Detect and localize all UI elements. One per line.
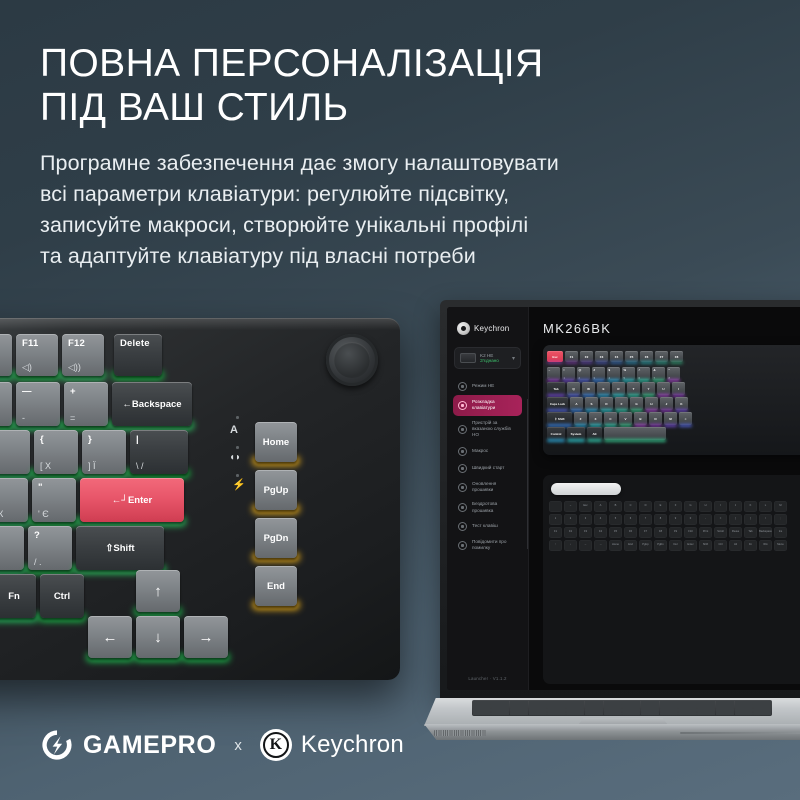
preview-key-backlight (567, 439, 585, 442)
laptop-key (473, 708, 491, 711)
sidebar-item-8[interactable]: Повідомити про помилку (453, 535, 522, 556)
remap-key[interactable]: End (624, 540, 637, 551)
laptop-key (491, 712, 509, 715)
laptop-key (622, 704, 640, 707)
laptop-screen: Keychron K2 HE З'єднано ▾ Режим HEРозкла… (447, 307, 800, 690)
remap-key[interactable] (549, 501, 562, 512)
remap-key[interactable]: B (609, 501, 622, 512)
keycap-sublabel: / . (34, 557, 42, 567)
laptop-key (566, 712, 584, 715)
laptop-key (735, 704, 753, 707)
nav-key-label: PgDn (255, 518, 297, 558)
remap-key-label: Backspace (759, 527, 772, 538)
remap-key[interactable]: C (624, 501, 637, 512)
page-title: ПОВНА ПЕРСОНАЛІЗАЦІЯ ПІД ВАШ СТИЛЬ (40, 42, 760, 131)
remap-key[interactable]: ; (774, 514, 787, 525)
remap-key[interactable]: 3 (579, 514, 592, 525)
remap-key-label: - (699, 514, 712, 525)
laptop-key (716, 701, 734, 704)
preview-key-backlight (604, 439, 666, 442)
keycap-sublabel: ◁) (22, 362, 32, 373)
remap-key[interactable]: E (654, 501, 667, 512)
laptop: Keychron K2 HE З'єднано ▾ Режим HEРозкла… (410, 300, 800, 750)
sidebar-item-label: Швидкий старт (472, 465, 504, 471)
remap-key[interactable]: Fn (744, 540, 757, 551)
laptop-key (585, 708, 603, 711)
sidebar-scrollbar[interactable] (527, 399, 528, 549)
remap-key-label: ] (744, 514, 757, 525)
keycap[interactable]: ⇧Shift (76, 526, 164, 570)
preview-key-label: # (594, 368, 596, 372)
remap-key[interactable]: 1 (549, 514, 562, 525)
keycap[interactable]: F12◁)) (62, 334, 104, 376)
sidebar-item-5[interactable]: Оновлення прошивки (453, 477, 522, 498)
remap-key-label: K (744, 501, 757, 512)
remap-key[interactable]: - (699, 514, 712, 525)
remap-key-label: 7 (639, 514, 652, 525)
laptop-key (473, 701, 491, 704)
laptop-key (660, 704, 678, 707)
nav-key[interactable]: PgDn (255, 518, 297, 558)
app-brand: Keychron (447, 319, 528, 337)
download-icon (458, 483, 467, 492)
keycap-sublabel: ] Ї (88, 461, 96, 471)
keyboard-icon (458, 401, 467, 410)
remap-key[interactable]: ← (579, 540, 592, 551)
laptop-key (641, 704, 659, 707)
remap-key-label: F3 (579, 527, 592, 538)
remap-key[interactable]: F10 (684, 527, 697, 538)
remap-key-label: Fn (744, 540, 757, 551)
keycap[interactable]: {[ Х (34, 430, 78, 474)
laptop-keyboard (472, 700, 772, 716)
footer-logos: GAMEPRO x K Keychron (40, 728, 404, 762)
nav-key[interactable]: PgUp (255, 470, 297, 510)
caps-indicator-icon: A (230, 424, 238, 436)
remap-key-label: Del (669, 540, 682, 551)
keycap[interactable]: |\ / (130, 430, 188, 474)
laptop-key (735, 712, 753, 715)
keycap[interactable]: ←┘Enter (80, 478, 184, 522)
sidebar-item-label: Оновлення прошивки (472, 481, 517, 494)
keycap-label: } (88, 434, 92, 445)
sidebar-item-7[interactable]: Тест клавіш (453, 518, 522, 535)
remap-key[interactable]: M (774, 501, 787, 512)
keychron-k-icon: K (260, 729, 292, 761)
laptop-key (547, 712, 565, 715)
keycap-sublabel: - (22, 413, 25, 423)
laptop-key (566, 701, 584, 704)
laptop-key (491, 704, 509, 707)
preview-key-label: @ (579, 368, 582, 372)
keycap-sublabel: [ Х (40, 461, 51, 471)
remap-key[interactable]: F6 (624, 527, 637, 538)
laptop-key (678, 712, 696, 715)
remap-key-label: F1 (549, 527, 562, 538)
app-sidebar: Keychron K2 HE З'єднано ▾ Режим HEРозкла… (447, 307, 529, 690)
laptop-key (697, 701, 715, 704)
volume-knob[interactable] (326, 334, 378, 386)
arrow-key-label: ← (88, 616, 132, 658)
remap-key[interactable]: Pause (729, 527, 742, 538)
remap-key[interactable]: Shift (699, 540, 712, 551)
keycap[interactable]: РЗ (0, 430, 30, 474)
keycap[interactable]: += (64, 382, 108, 426)
nav-key-label: PgUp (255, 470, 297, 510)
remap-key[interactable]: Scroll (714, 527, 727, 538)
keycap[interactable]: )0 (0, 382, 12, 426)
remap-key[interactable]: Backspace (759, 527, 772, 538)
remap-key[interactable]: F8 (654, 527, 667, 538)
remap-key-label: Enter (684, 540, 697, 551)
preview-key-backlight (547, 361, 563, 364)
keycap[interactable]: Ctrl (40, 574, 84, 618)
remap-key[interactable]: Ctrl (714, 540, 727, 551)
remap-key-label: ↓ (564, 540, 577, 551)
remap-key-label: F10 (684, 527, 697, 538)
laptop-key (678, 708, 696, 711)
keycap-label: ⇧Shift (76, 526, 164, 570)
preview-key-label: $ (609, 368, 611, 372)
keycap-label: — (22, 386, 32, 397)
keycap-label: ←┘Enter (80, 478, 184, 522)
led-dot (236, 446, 239, 449)
laptop-key (641, 708, 659, 711)
keycap[interactable]: :; Ж (0, 478, 28, 522)
arrow-key[interactable]: ↓ (136, 616, 180, 658)
preview-key-label: % (624, 368, 627, 372)
preview-key-backlight (580, 361, 593, 364)
remap-key[interactable]: Ins (774, 527, 787, 538)
preview-key-backlight (640, 361, 653, 364)
keycap[interactable]: >. Ю (0, 526, 24, 570)
remap-key[interactable]: PgUp (639, 540, 652, 551)
laptop-key (566, 708, 584, 711)
sidebar-item-6[interactable]: Бездротова прошивка (453, 497, 522, 518)
remap-key-label: 2 (564, 514, 577, 525)
keycap[interactable]: }] Ї (82, 430, 126, 474)
preview-key-backlight (547, 439, 565, 442)
remap-key-label: Home (609, 540, 622, 551)
keycap-label: { (40, 434, 44, 445)
arrow-key-label: → (184, 616, 228, 658)
remap-key-label: F4 (594, 527, 607, 538)
preview-key-backlight (610, 361, 623, 364)
promo-banner: ПОВНА ПЕРСОНАЛІЗАЦІЯ ПІД ВАШ СТИЛЬ Прогр… (0, 0, 800, 800)
remap-key-label: Print (699, 527, 712, 538)
remap-key-label: 4 (594, 514, 607, 525)
laptop-key (622, 712, 640, 715)
remap-key[interactable]: 9 (669, 514, 682, 525)
arrow-key[interactable]: ← (88, 616, 132, 658)
remap-key-label: F (669, 501, 682, 512)
speaker-grille (434, 730, 486, 736)
remap-key[interactable]: Alt (729, 540, 742, 551)
preview-key-backlight (587, 439, 602, 442)
remap-key[interactable]: D (639, 501, 652, 512)
remap-key-label: D (639, 501, 652, 512)
remap-key[interactable]: → (594, 540, 607, 551)
remap-key[interactable]: 5 (609, 514, 622, 525)
brand-label: Keychron (474, 324, 509, 333)
device-model-title: MK266BK (543, 321, 800, 336)
key-remap-panel[interactable]: ~EscABCDEFGHIJKLM1234567890-=[]\;F1F2F3F… (543, 475, 800, 684)
nav-key[interactable]: End (255, 566, 297, 606)
laptop-key (529, 701, 547, 704)
preview-key-backlight (625, 361, 638, 364)
keychron-logo-icon (457, 322, 470, 335)
keycap-label: " (38, 482, 43, 493)
keycap[interactable]: ←Backspace (112, 382, 192, 426)
sidebar-item-4[interactable]: Швидкий старт (453, 460, 522, 477)
wireless-icon (458, 503, 467, 512)
remap-key[interactable]: Print (699, 527, 712, 538)
remap-key[interactable]: Win (759, 540, 772, 551)
remap-key-label: Ins (774, 527, 787, 538)
laptop-key (660, 701, 678, 704)
remap-key-label: 9 (669, 514, 682, 525)
keycap-label: | (136, 434, 139, 445)
laptop-key (753, 708, 771, 711)
chevron-down-icon[interactable]: ▾ (512, 355, 515, 362)
remap-key-label: A (594, 501, 607, 512)
laptop-key (604, 704, 622, 707)
remap-key-label: ← (579, 540, 592, 551)
remap-key[interactable]: I (714, 501, 727, 512)
laptop-key (641, 701, 659, 704)
keycap[interactable]: "' Є (32, 478, 76, 522)
remap-key[interactable]: F1 (549, 527, 562, 538)
remap-key[interactable]: L (759, 501, 772, 512)
remap-key-label: 6 (624, 514, 637, 525)
remap-key[interactable]: F (669, 501, 682, 512)
device-thumbnail-icon (460, 353, 476, 363)
spacebar-preview[interactable] (551, 483, 621, 495)
remap-key[interactable]: F4 (594, 527, 607, 538)
wave-icon (458, 382, 467, 391)
led-dot (236, 416, 239, 419)
keyboard-preview[interactable]: EscF1F2F3F4F5F6F7F8~`!1@2#3$4%5^6&7*8Tab… (543, 345, 800, 455)
laptop-key (529, 704, 547, 707)
remap-key[interactable]: 0 (684, 514, 697, 525)
sidebar-item-label: Розкладка клавіатури (472, 399, 517, 412)
remap-key[interactable]: F2 (564, 527, 577, 538)
page-subtitle: Програмне забезпечення дає змогу налашто… (40, 148, 770, 272)
remap-key[interactable]: J (729, 501, 742, 512)
laptop-key (678, 701, 696, 704)
remap-key-label: L (759, 501, 772, 512)
device-status: З'єднано (480, 358, 499, 363)
remap-key[interactable]: K (744, 501, 757, 512)
remap-key-label: C (624, 501, 637, 512)
laptop-key (697, 704, 715, 707)
nav-key-label: End (255, 566, 297, 606)
remap-key[interactable]: [ (729, 514, 742, 525)
laptop-key (529, 712, 547, 715)
remap-key[interactable]: Enter (684, 540, 697, 551)
laptop-key (660, 708, 678, 711)
remap-key-label: 1 (549, 514, 562, 525)
remap-key-label: Scroll (714, 527, 727, 538)
sidebar-item-label: Режим HE (472, 383, 494, 389)
laptop-key (697, 712, 715, 715)
remap-key[interactable]: Tab (744, 527, 757, 538)
launcher-version: Launcher · V1.1.2 (447, 676, 528, 681)
remap-key-label: I (714, 501, 727, 512)
keycap[interactable]: Fn (0, 574, 36, 618)
keycap[interactable]: Delete (114, 334, 162, 376)
laptop-key (473, 704, 491, 707)
remap-key-label (549, 501, 562, 512)
battery-bolt-indicator-icon: ⚡ (232, 478, 246, 491)
remap-key-label: ; (774, 514, 787, 525)
remap-key-label: B (609, 501, 622, 512)
remap-key[interactable]: Home (609, 540, 622, 551)
rocket-icon (458, 464, 467, 473)
remap-key[interactable]: H (699, 501, 712, 512)
remap-key-label: G (684, 501, 697, 512)
remap-key[interactable]: Menu (774, 540, 787, 551)
remap-key[interactable]: 2 (564, 514, 577, 525)
remap-key[interactable]: ↓ (564, 540, 577, 551)
remap-key-label: [ (729, 514, 742, 525)
remap-key-label: J (729, 501, 742, 512)
remap-key-label: Alt (729, 540, 742, 551)
wireless-indicator-icon: ◖◗ (229, 452, 241, 463)
laptop-lid: Keychron K2 HE З'єднано ▾ Режим HEРозкла… (440, 300, 800, 700)
macro-icon (458, 447, 467, 456)
remap-key[interactable]: ] (744, 514, 757, 525)
remap-key[interactable]: Del (669, 540, 682, 551)
base-seam (680, 732, 800, 734)
remap-key[interactable]: ↑ (549, 540, 562, 551)
remap-key[interactable]: A (594, 501, 607, 512)
keycap[interactable]: —- (16, 382, 60, 426)
preview-key-backlight (670, 361, 683, 364)
laptop-key (604, 701, 622, 704)
keycap[interactable]: ?/ . (28, 526, 72, 570)
laptop-key (585, 701, 603, 704)
sidebar-menu: Режим HEРозкладка клавіатуриПристрій за … (447, 378, 528, 556)
remap-key[interactable]: G (684, 501, 697, 512)
remap-key-label: F7 (639, 527, 652, 538)
app-main: MK266BK EscF1F2F3F4F5F6F7F8~`!1@2#3$4%5^… (529, 307, 800, 690)
remap-key[interactable]: = (714, 514, 727, 525)
remap-key-label: → (594, 540, 607, 551)
physical-keyboard: F8▷❙❙F9▷▷F10◁F11◁)F12◁))Delete(9)0—-+=←B… (0, 318, 400, 680)
laptop-key (491, 708, 509, 711)
keycap-label: ←Backspace (112, 382, 192, 426)
remap-key[interactable]: ~ (564, 501, 577, 512)
remap-key[interactable]: 8 (654, 514, 667, 525)
sidebar-item-3[interactable]: Макрос (453, 443, 522, 460)
laptop-key (622, 708, 640, 711)
laptop-key (585, 712, 603, 715)
remap-key-label: = (714, 514, 727, 525)
remap-key-label: Pause (729, 527, 742, 538)
keycap[interactable]: F10◁ (0, 334, 12, 376)
laptop-key (735, 701, 753, 704)
sidebar-item-2[interactable]: Пристрій за вказаною службів НО (453, 416, 522, 443)
preview-key-label: * (669, 368, 670, 372)
led-dot (236, 474, 239, 477)
remap-key-label: Win (759, 540, 772, 551)
keychron-logo: K Keychron (260, 729, 404, 761)
preview-key-label: ^ (639, 368, 641, 372)
sidebar-item-0[interactable]: Режим HE (453, 378, 522, 395)
remap-key-label: F9 (669, 527, 682, 538)
remap-key-label: M (774, 501, 787, 512)
remap-key[interactable]: F5 (609, 527, 622, 538)
laptop-key (547, 704, 565, 707)
laptop-key (585, 704, 603, 707)
remap-key-label: F2 (564, 527, 577, 538)
remap-key-label: E (654, 501, 667, 512)
remap-key[interactable]: 4 (594, 514, 607, 525)
laptop-key (510, 708, 528, 711)
remap-key-label: PgUp (639, 540, 652, 551)
sidebar-item-label: Бездротова прошивка (472, 501, 517, 514)
remap-key[interactable]: F7 (639, 527, 652, 538)
remap-key-label: 5 (609, 514, 622, 525)
preview-key-label: ! (564, 368, 565, 372)
preview-key-backlight (655, 361, 668, 364)
keycap-label: + (70, 386, 76, 397)
laptop-key (547, 701, 565, 704)
nav-key[interactable]: Home (255, 422, 297, 462)
remap-key-label: 0 (684, 514, 697, 525)
arrow-key[interactable]: → (184, 616, 228, 658)
laptop-key (510, 704, 528, 707)
laptop-key (735, 708, 753, 711)
remap-key-label: ↑ (549, 540, 562, 551)
sidebar-item-1[interactable]: Розкладка клавіатури (453, 395, 522, 416)
bug-icon (458, 541, 467, 550)
laptop-key (604, 708, 622, 711)
remap-key[interactable]: Esc (579, 501, 592, 512)
laptop-key (716, 708, 734, 711)
gamepro-bolt-icon (40, 728, 74, 762)
remap-key[interactable]: PgDn (654, 540, 667, 551)
gamepro-wordmark: GAMEPRO (83, 731, 216, 760)
arrow-key-label: ↑ (136, 570, 180, 612)
device-selector[interactable]: K2 HE З'єднано ▾ (454, 347, 521, 369)
remap-key[interactable]: 6 (624, 514, 637, 525)
test-icon (458, 522, 467, 531)
laptop-key (697, 708, 715, 711)
remap-key-label: Menu (774, 540, 787, 551)
sidebar-item-label: Пристрій за вказаною службів НО (472, 420, 517, 439)
keycap[interactable]: F11◁) (16, 334, 58, 376)
sidebar-item-label: Повідомити про помилку (472, 539, 517, 552)
laptop-key (547, 708, 565, 711)
remap-key[interactable]: F9 (669, 527, 682, 538)
arrow-key[interactable]: ↑ (136, 570, 180, 612)
keycap-label: Delete (120, 338, 150, 349)
remap-key-label: F6 (624, 527, 637, 538)
cloud-icon (458, 425, 467, 434)
remap-key[interactable]: 7 (639, 514, 652, 525)
remap-key[interactable]: F3 (579, 527, 592, 538)
laptop-key (622, 701, 640, 704)
remap-key-label: H (699, 501, 712, 512)
keycap-sublabel: ◁)) (68, 362, 81, 373)
remap-key-label: ~ (564, 501, 577, 512)
remap-key[interactable]: \ (759, 514, 772, 525)
remap-key-label: 3 (579, 514, 592, 525)
keycap-label: ? (34, 530, 40, 541)
laptop-base (410, 698, 800, 742)
